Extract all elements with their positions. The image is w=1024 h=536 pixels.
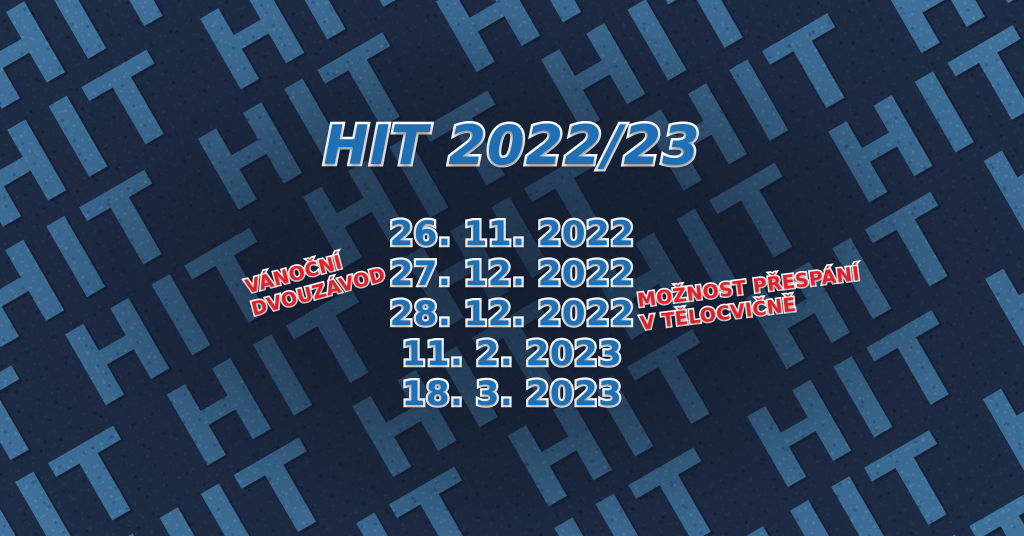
poster-canvas: HIT HIT HIT HIT HIT HIT HIT HIT HIT HIT …	[0, 0, 1024, 536]
date-item: 18. 3. 2023	[0, 374, 1024, 414]
date-item: 28. 12. 2022	[0, 294, 1024, 334]
date-item: 26. 11. 2022	[0, 214, 1024, 254]
poster-content: HIT 2022/23 26. 11. 2022 27. 12. 2022 28…	[0, 0, 1024, 536]
date-list: 26. 11. 2022 27. 12. 2022 28. 12. 2022 1…	[0, 214, 1024, 414]
date-item: 27. 12. 2022	[0, 254, 1024, 294]
poster-title: HIT 2022/23	[0, 114, 1024, 177]
date-item: 11. 2. 2023	[0, 334, 1024, 374]
